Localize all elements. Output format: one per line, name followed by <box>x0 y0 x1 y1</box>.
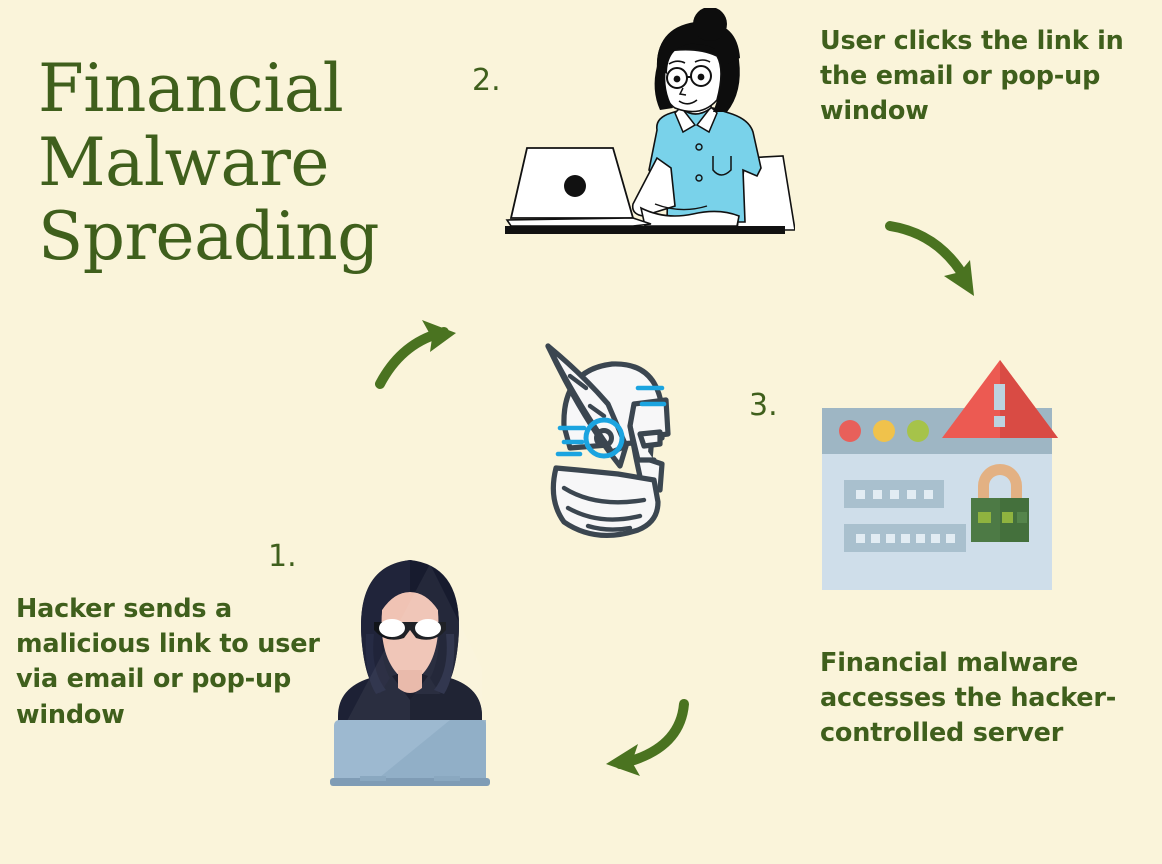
step-caption-1: Hacker sends a malicious link to user vi… <box>16 592 334 733</box>
page-title: Financial Malware Spreading <box>38 52 478 274</box>
illustration-hooded-hacker <box>330 548 490 793</box>
window-dot-amber <box>873 420 895 442</box>
window-dot-green <box>907 420 929 442</box>
illustration-woman-at-laptop <box>505 8 795 243</box>
illustration-trojan-helmet <box>534 330 694 555</box>
arrow-hacker-to-user-icon <box>372 312 472 397</box>
step-caption-3: Financial malware accesses the hacker-co… <box>820 646 1140 752</box>
arrow-user-to-browser-icon <box>884 214 994 309</box>
arrow-browser-to-hacker-icon <box>592 694 702 789</box>
infographic-poster: Financial Malware Spreading 1. 2. 3. Use… <box>0 0 1162 864</box>
step-caption-2: User clicks the link in the email or pop… <box>820 24 1140 130</box>
window-dot-red <box>839 420 861 442</box>
step-number-2: 2. <box>472 63 501 98</box>
illustration-browser-window <box>818 352 1063 612</box>
step-number-1: 1. <box>268 539 297 574</box>
step-number-3: 3. <box>749 388 778 423</box>
